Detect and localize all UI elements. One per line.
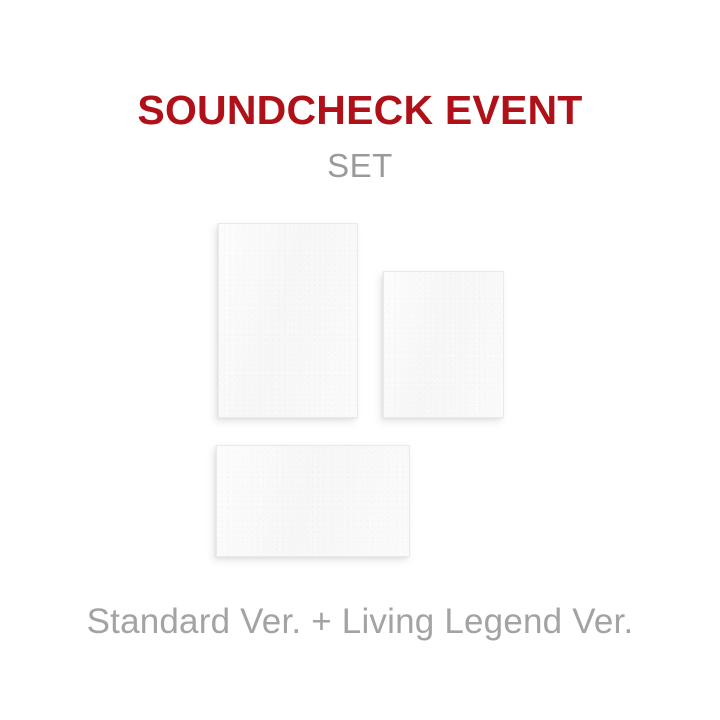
- landscape-card: [216, 445, 410, 557]
- soundcheck-event-poster: SOUNDCHECK EVENT SET Standard Ver. + Liv…: [0, 0, 720, 720]
- small-portrait-card: [383, 271, 504, 418]
- poster-caption: Standard Ver. + Living Legend Ver.: [0, 600, 720, 644]
- version-caption-text: Standard Ver. + Living Legend Ver.: [0, 600, 720, 644]
- large-portrait-card: [218, 223, 358, 418]
